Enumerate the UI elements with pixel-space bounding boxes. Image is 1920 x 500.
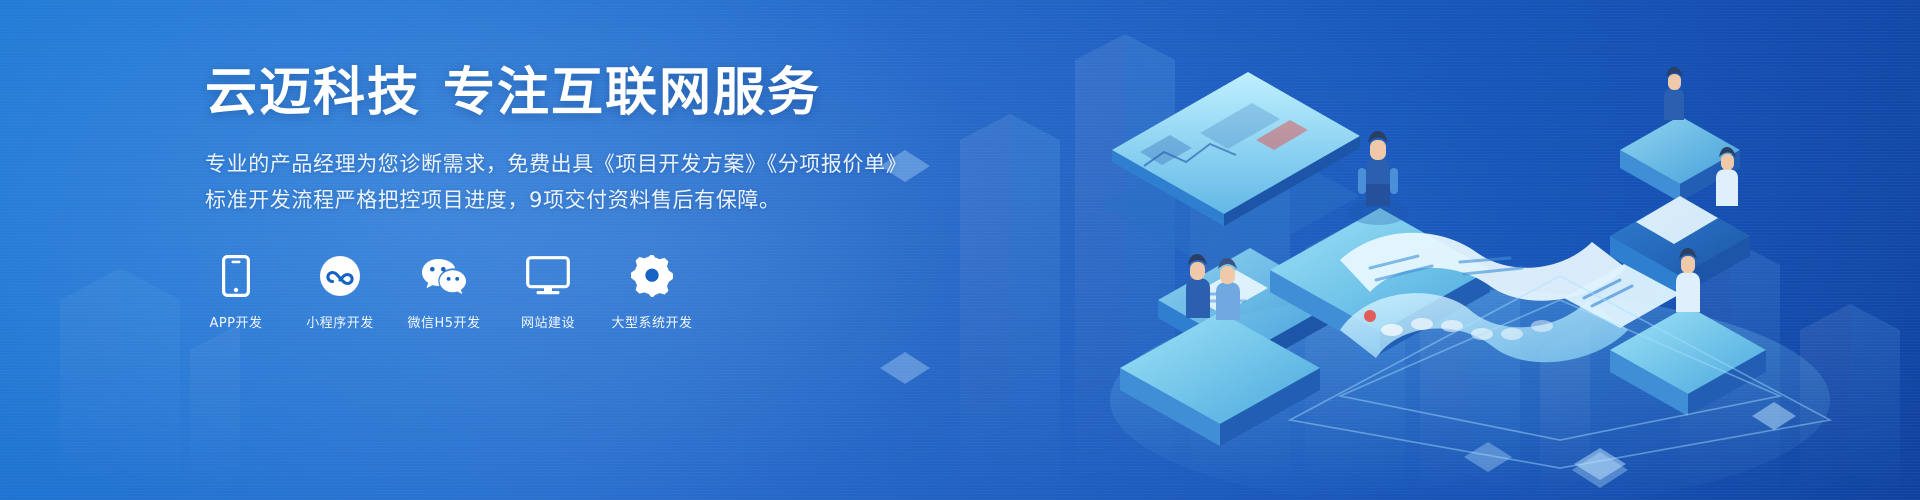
gear-icon: [631, 254, 673, 298]
monitor-icon: [526, 254, 570, 298]
subtitle-line-2: 标准开发流程严格把控项目进度，9项交付资料售后有保障。: [205, 182, 905, 218]
service-label-website: 网站建设: [521, 312, 575, 331]
mini-program-icon: [319, 254, 361, 298]
service-item-large-system[interactable]: 大型系统开发: [621, 254, 683, 331]
page-title: 云迈科技专注互联网服务: [205, 64, 905, 124]
wechat-icon: [420, 254, 468, 298]
service-item-website[interactable]: 网站建设: [517, 254, 579, 331]
service-item-wechat-h5[interactable]: 微信H5开发: [413, 254, 475, 331]
isometric-tech-team-illustration: [1040, 0, 1920, 500]
hero-banner: 云迈科技专注互联网服务 专业的产品经理为您诊断需求，免费出具《项目开发方案》《分…: [0, 0, 1920, 500]
subtitle-line-1: 专业的产品经理为您诊断需求，免费出具《项目开发方案》《分项报价单》: [205, 146, 905, 182]
headline-tagline: 专注互联网服务: [443, 63, 821, 123]
service-item-app[interactable]: APP开发: [205, 254, 267, 331]
service-label-wechat-h5: 微信H5开发: [407, 312, 480, 331]
service-item-mini-program[interactable]: 小程序开发: [309, 254, 371, 331]
service-label-app: APP开发: [209, 312, 262, 331]
service-list: APP开发 小程序开发: [205, 254, 905, 331]
service-label-mini-program: 小程序开发: [306, 312, 374, 331]
headline-brand: 云迈科技: [205, 63, 421, 123]
service-label-large-system: 大型系统开发: [612, 312, 693, 331]
banner-subtitle: 专业的产品经理为您诊断需求，免费出具《项目开发方案》《分项报价单》 标准开发流程…: [205, 146, 905, 218]
mobile-phone-icon: [222, 254, 250, 298]
banner-content: 云迈科技专注互联网服务 专业的产品经理为您诊断需求，免费出具《项目开发方案》《分…: [205, 64, 905, 331]
